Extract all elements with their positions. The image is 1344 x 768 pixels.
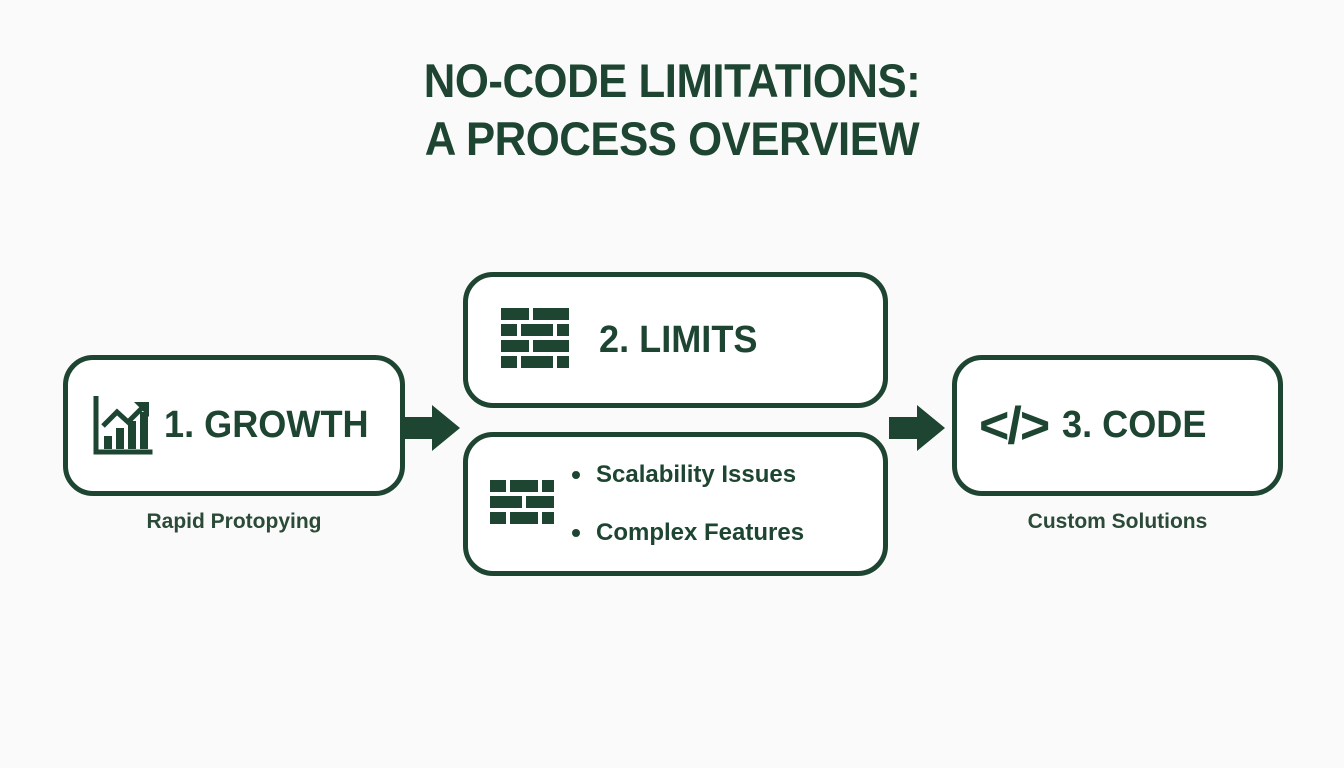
list-item-label: Complex Features bbox=[596, 519, 804, 547]
list-item-label: Scalability Issues bbox=[596, 461, 796, 489]
node-code-label: 3. CODE bbox=[1062, 404, 1206, 447]
bullet-dot-icon bbox=[572, 471, 580, 479]
page-title: NO-CODE LIMITATIONS: A PROCESS OVERVIEW bbox=[0, 52, 1344, 168]
node-growth-caption: Rapid Protopying bbox=[63, 510, 405, 534]
brick-wall-icon bbox=[490, 480, 554, 528]
list-item: Scalability Issues bbox=[572, 461, 804, 489]
node-growth[interactable]: 1. GROWTH bbox=[63, 355, 405, 496]
page-title-line-2: A PROCESS OVERVIEW bbox=[47, 110, 1297, 168]
node-growth-label: 1. GROWTH bbox=[164, 404, 369, 447]
page-title-line-1: NO-CODE LIMITATIONS: bbox=[47, 52, 1297, 110]
brick-wall-icon bbox=[501, 308, 569, 372]
issues-bullet-list: Scalability Issues Complex Features bbox=[572, 461, 804, 547]
node-limits-label: 2. LIMITS bbox=[599, 319, 757, 362]
node-issues[interactable]: Scalability Issues Complex Features bbox=[463, 432, 888, 576]
node-code[interactable]: </> 3. CODE bbox=[952, 355, 1283, 496]
growth-chart-icon bbox=[92, 396, 154, 456]
node-code-caption: Custom Solutions bbox=[952, 510, 1283, 534]
node-limits[interactable]: 2. LIMITS bbox=[463, 272, 888, 408]
bullet-dot-icon bbox=[572, 529, 580, 537]
list-item: Complex Features bbox=[572, 519, 804, 547]
arrow-limits-to-code-icon bbox=[889, 405, 945, 451]
code-tag-icon: </> bbox=[979, 400, 1048, 452]
arrow-growth-to-limits-icon bbox=[404, 405, 460, 451]
